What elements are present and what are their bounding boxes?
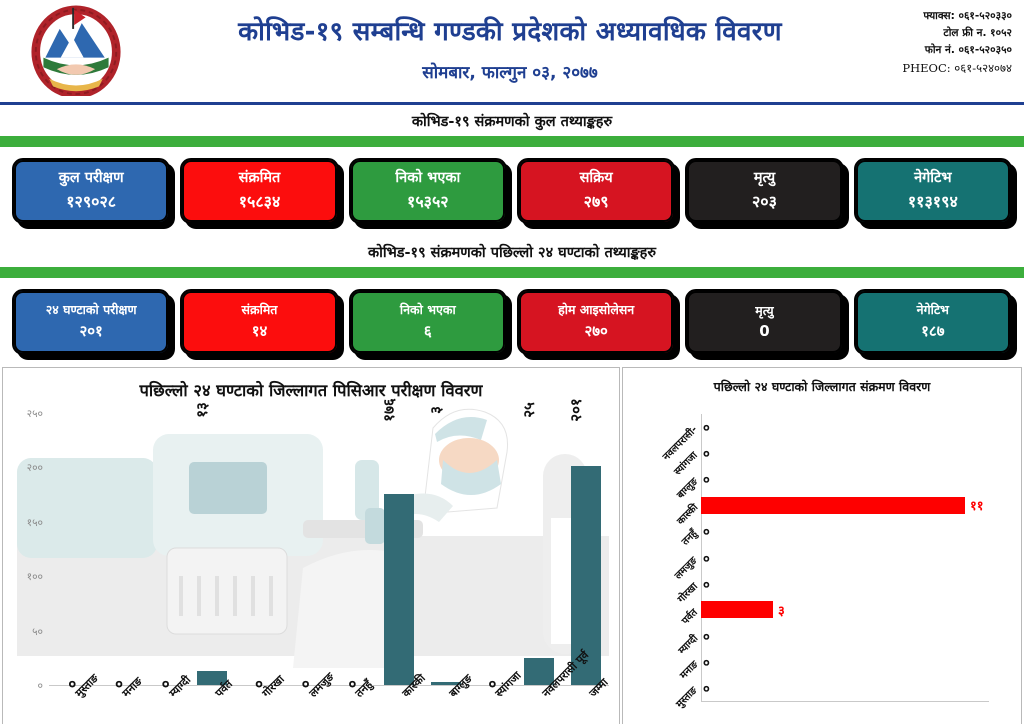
infection-bar-row: म्याग्दी० xyxy=(701,623,989,649)
pcr-x-label-slot: नवलपरासी पूर्व xyxy=(516,688,563,724)
stat-card: सक्रिय२७९ xyxy=(517,158,675,224)
pcr-bar-value-label: २०१ xyxy=(566,398,586,421)
last24h-stats-cards: २४ घण्टाको परीक्षण२०१संक्रमित१४निको भएका… xyxy=(0,278,1024,367)
infection-bar-row: मुस्ताङ० xyxy=(701,675,989,701)
infection-category-label: म्याग्दी xyxy=(674,631,700,657)
pcr-bar-column: ० xyxy=(236,413,283,685)
pcr-y-tick: २५० xyxy=(27,407,43,421)
stat-card-label: सक्रिय xyxy=(580,170,613,187)
pcr-bar-column: २०१ xyxy=(562,413,609,685)
charts-row: पछिल्लो २४ घण्टाको जिल्लागत पिसिआर परीक्… xyxy=(0,367,1024,724)
pcr-chart-plot: ०५०१००१५०२००२५० ०००१३०००१७६३०२५२०१ xyxy=(49,414,609,686)
infection-bar-value-label: ० xyxy=(703,679,710,697)
stat-card-value: 0 xyxy=(759,322,769,340)
pcr-y-tick: ० xyxy=(38,679,43,693)
fax-number: फ्याक्स: ०६१-५२०३३० xyxy=(902,8,1012,25)
last24h-stats-banner: कोभिड-१९ संक्रमणको पछिल्लो २४ घण्टाको तथ… xyxy=(0,236,1024,267)
pcr-bar-column: ० xyxy=(469,413,516,685)
stat-card: नेगेटिभ१८७ xyxy=(854,289,1012,355)
pcr-y-tick: २०० xyxy=(27,461,43,475)
pcr-test-chart-panel: पछिल्लो २४ घण्टाको जिल्लागत पिसिआर परीक्… xyxy=(2,367,620,724)
infection-bar-row: बाग्लुङ० xyxy=(701,466,989,492)
pcr-bar-column: ० xyxy=(96,413,143,685)
infection-x-axis xyxy=(701,701,989,702)
stat-card-label: मृत्यु xyxy=(754,170,775,187)
infection-category-label: कास्की xyxy=(673,500,700,527)
covid-dashboard-page: कोभिड-१९ सम्बन्धि गण्डकी प्रदेशको अध्याव… xyxy=(0,0,1024,724)
pcr-bar-column: १३ xyxy=(189,413,236,685)
phone-number: फोन नं. ०६१-५२०३५० xyxy=(902,42,1012,59)
stat-card-label: २४ घण्टाको परीक्षण xyxy=(46,303,137,317)
infection-category-label: बाग्लुङ xyxy=(673,474,700,501)
pcr-x-label-slot: स्यांगजा xyxy=(469,688,516,724)
infection-category-label: गोरखा xyxy=(674,579,700,605)
stat-card: कुल परीक्षण१२९०२८ xyxy=(12,158,170,224)
infection-bar-row: कास्की११ xyxy=(701,492,989,518)
stat-card-label: नेगेटिभ xyxy=(914,170,951,187)
pcr-x-label-slot: म्याग्दी xyxy=(142,688,189,724)
pcr-bar-column: २५ xyxy=(516,413,563,685)
pcr-bar: १७६ xyxy=(384,494,414,685)
stat-card-value: २७९ xyxy=(584,190,609,212)
infection-bar-value-label: ३ xyxy=(778,601,785,619)
infection-bar-value-label: ११ xyxy=(970,496,984,514)
green-band-total xyxy=(0,136,1024,147)
infection-category-label: तनहुँ xyxy=(678,526,700,548)
pcr-chart-title: पछिल्लो २४ घण्टाको जिल्लागत पिसिआर परीक्… xyxy=(3,368,619,401)
contact-info: फ्याक्स: ०६१-५२०३३० टोल फ्री न. १०५२ फोन… xyxy=(902,8,1012,78)
pcr-bar-value-label: १७६ xyxy=(379,398,399,421)
infection-bar-value-label: ० xyxy=(703,470,710,488)
infection-bar-value-label: ० xyxy=(703,522,710,540)
toll-free-number: टोल फ्री न. १०५२ xyxy=(902,25,1012,42)
stat-card-value: १५८३४ xyxy=(239,190,281,212)
pcr-bar-column: ३ xyxy=(422,413,469,685)
pcr-x-label-slot: लमजुङ xyxy=(282,688,329,724)
pcr-x-label-slot: पर्वत xyxy=(189,688,236,724)
pcr-y-tick: ५० xyxy=(32,625,43,639)
pcr-x-label-slot: जम्मा xyxy=(562,688,609,724)
infection-bar-value-label: ० xyxy=(703,549,710,567)
infection-chart-panel: पछिल्लो २४ घण्टाको जिल्लागत संक्रमण विवर… xyxy=(622,367,1022,724)
pcr-y-tick: १५० xyxy=(27,516,43,530)
stat-card-value: १४ xyxy=(252,321,268,341)
total-stats-banner: कोभिड-१९ संक्रमणको कुल तथ्याङ्कहरु xyxy=(0,105,1024,136)
infection-category-label: मनाङ xyxy=(676,657,700,681)
green-band-24h xyxy=(0,267,1024,278)
pcr-bar-column: ० xyxy=(49,413,96,685)
nepal-government-emblem-icon xyxy=(28,4,124,96)
stat-card-label: कुल परीक्षण xyxy=(59,170,124,187)
stat-card: निको भएका१५३५२ xyxy=(349,158,507,224)
stat-card: होम आइसोलेसन२७० xyxy=(517,289,675,355)
pcr-x-label-slot: मनाङ xyxy=(96,688,143,724)
stat-card-label: निको भएका xyxy=(395,170,460,187)
page-header: कोभिड-१९ सम्बन्धि गण्डकी प्रदेशको अध्याव… xyxy=(0,0,1024,100)
pcr-x-label-slot: कास्की xyxy=(376,688,423,724)
stat-card: निको भएका६ xyxy=(349,289,507,355)
stat-card: मृत्यु२०३ xyxy=(685,158,843,224)
infection-category-label: पर्वत xyxy=(678,605,700,627)
infection-chart-plot: नवलपरासी-०स्यांगजा०बाग्लुङ०कास्की११तनहुँ… xyxy=(701,414,989,702)
pcr-bar-column: ० xyxy=(329,413,376,685)
stat-card: संक्रमित१४ xyxy=(180,289,338,355)
stat-card-value: २०१ xyxy=(79,321,102,341)
pcr-bar-column: ० xyxy=(142,413,189,685)
stat-card-value: १२९०२८ xyxy=(66,190,116,212)
infection-category-label: लमजुङ xyxy=(671,553,700,582)
infection-bar-value-label: ० xyxy=(703,444,710,462)
stat-card-label: संक्रमित xyxy=(242,303,278,317)
pcr-bar-value-label: २५ xyxy=(519,402,539,418)
pcr-bar-value-label: १३ xyxy=(192,402,212,418)
infection-bar-row: स्यांगजा० xyxy=(701,440,989,466)
pcr-x-axis-labels: मुस्ताङमनाङम्याग्दीपर्वतगोरखालमजुङतनहुँक… xyxy=(49,688,609,724)
infection-bar-row: लमजुङ० xyxy=(701,544,989,570)
stat-card-label: होम आइसोलेसन xyxy=(558,303,634,317)
stat-card-label: संक्रमित xyxy=(239,170,281,187)
total-stats-cards: कुल परीक्षण१२९०२८संक्रमित१५८३४निको भएका१… xyxy=(0,147,1024,236)
pheoc-number: PHEOC: ०६१-५२४०७४ xyxy=(902,59,1012,78)
stat-card-value: १८७ xyxy=(921,321,944,341)
infection-chart-title: पछिल्लो २४ घण्टाको जिल्लागत संक्रमण विवर… xyxy=(623,368,1021,395)
infection-bar-row: तनहुँ० xyxy=(701,518,989,544)
stat-card: नेगेटिभ११३१९४ xyxy=(854,158,1012,224)
infection-bar xyxy=(701,601,773,618)
stat-card-label: मृत्यु xyxy=(755,304,773,318)
infection-bar-value-label: ० xyxy=(703,575,710,593)
infection-bar-value-label: ० xyxy=(703,653,710,671)
stat-card-label: नेगेटिभ xyxy=(917,303,949,317)
pcr-bar-column: ० xyxy=(282,413,329,685)
stat-card: संक्रमित१५८३४ xyxy=(180,158,338,224)
stat-card-value: ६ xyxy=(424,321,432,341)
infection-bar-row: मनाङ० xyxy=(701,649,989,675)
header-text-block: कोभिड-१९ सम्बन्धि गण्डकी प्रदेशको अध्याव… xyxy=(140,18,880,83)
infection-bars-group: नवलपरासी-०स्यांगजा०बाग्लुङ०कास्की११तनहुँ… xyxy=(701,414,989,701)
infection-bar xyxy=(701,497,965,514)
pcr-x-label-slot: तनहुँ xyxy=(329,688,376,724)
stat-card-label: निको भएका xyxy=(400,303,456,317)
pcr-bar-value-label: ३ xyxy=(426,406,446,414)
pcr-x-label-slot: बाग्लुङ xyxy=(422,688,469,724)
stat-card: मृत्यु0 xyxy=(685,289,843,355)
stat-card-value: २०३ xyxy=(752,190,777,212)
pcr-bar-column: १७६ xyxy=(376,413,423,685)
report-date: सोमबार, फाल्गुन ०३, २०७७ xyxy=(140,60,880,83)
infection-bar-value-label: ० xyxy=(703,418,710,436)
stat-card-value: ११३१९४ xyxy=(908,190,958,212)
pcr-bars-group: ०००१३०००१७६३०२५२०१ xyxy=(49,413,609,685)
infection-bar-row: नवलपरासी-० xyxy=(701,414,989,440)
stat-card-value: १५३५२ xyxy=(407,190,449,212)
page-title: कोभिड-१९ सम्बन्धि गण्डकी प्रदेशको अध्याव… xyxy=(140,18,880,48)
pcr-x-label-slot: गोरखा xyxy=(236,688,283,724)
stat-card-value: २७० xyxy=(584,321,607,341)
stat-card: २४ घण्टाको परीक्षण२०१ xyxy=(12,289,170,355)
infection-bar-row: पर्वत३ xyxy=(701,597,989,623)
pcr-y-tick: १०० xyxy=(27,570,43,584)
pcr-x-label-slot: मुस्ताङ xyxy=(49,688,96,724)
infection-bar-row: गोरखा० xyxy=(701,571,989,597)
infection-bar-value-label: ० xyxy=(703,627,710,645)
infection-category-label: मुस्ताङ xyxy=(673,683,700,710)
